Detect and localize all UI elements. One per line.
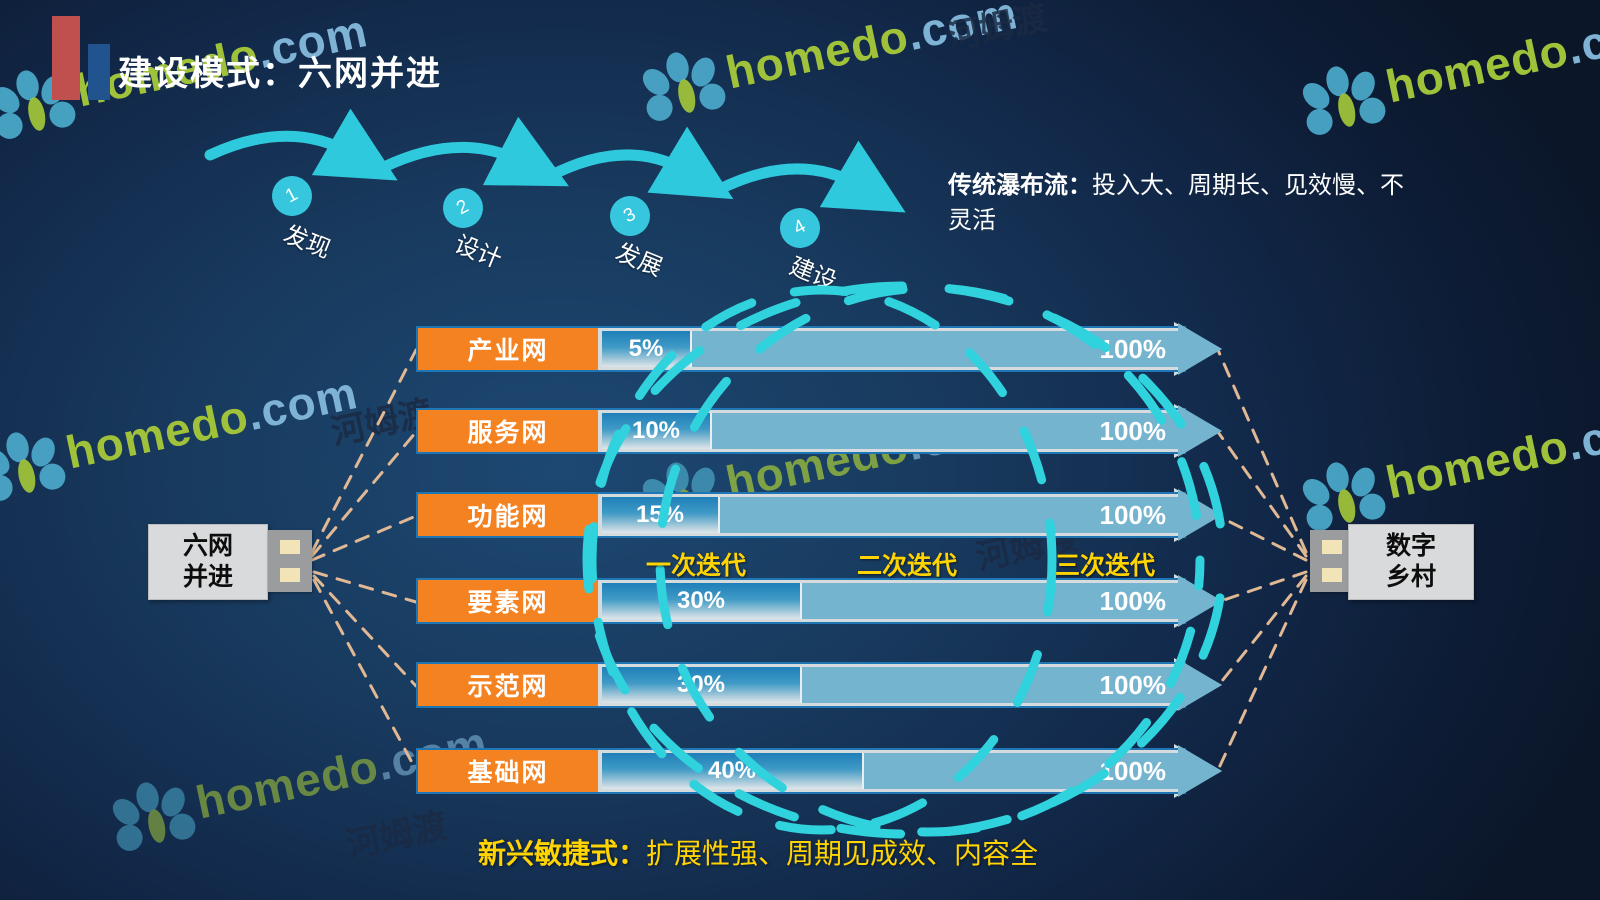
bar-track: 30% 100% bbox=[602, 667, 1180, 703]
bar-label: 基础网 bbox=[418, 750, 598, 792]
iteration-label-2: 二次迭代 bbox=[857, 546, 957, 582]
connector-dot bbox=[1322, 568, 1342, 582]
bar-label: 功能网 bbox=[418, 494, 598, 536]
bar-target-label: 100% bbox=[1100, 667, 1167, 703]
bar-arrowhead bbox=[1178, 489, 1222, 541]
watermark-cn: 河姆渡 bbox=[341, 798, 451, 867]
bar-label: 示范网 bbox=[418, 664, 598, 706]
bar-arrowhead bbox=[1178, 659, 1222, 711]
bar-frame: 功能网 15% 100% bbox=[416, 492, 1186, 538]
bar-target-label: 100% bbox=[1100, 331, 1167, 367]
node-left-line1: 六网 bbox=[183, 531, 233, 562]
steps-layer: 1 发现 2 设计 3 发展 4 建设 bbox=[0, 0, 1600, 320]
node-left-line2: 并进 bbox=[183, 562, 233, 593]
bar-row[interactable]: 服务网 10% 100% bbox=[416, 408, 1216, 454]
bar-arrowhead bbox=[1178, 323, 1222, 375]
bar-label: 产业网 bbox=[418, 328, 598, 370]
step-label-3: 发展 bbox=[611, 232, 669, 282]
step-label-4: 建设 bbox=[785, 246, 843, 296]
bar-fill: 40% bbox=[602, 753, 864, 789]
note-agile-label: 新兴敏捷式： bbox=[478, 838, 646, 869]
connector-dot bbox=[1322, 540, 1342, 554]
bar-track: 15% 100% bbox=[602, 497, 1180, 533]
bar-fill: 5% bbox=[602, 331, 692, 367]
note-waterfall: 传统瀑布流：投入大、周期长、见效慢、不灵活 bbox=[948, 168, 1418, 238]
bar-frame: 基础网 40% 100% bbox=[416, 748, 1186, 794]
node-right-box[interactable]: 数字 乡村 bbox=[1348, 524, 1474, 600]
bar-arrowhead bbox=[1178, 405, 1222, 457]
bar-arrowhead bbox=[1178, 575, 1222, 627]
bar-fill: 30% bbox=[602, 583, 802, 619]
note-agile-text: 扩展性强、周期见成效、内容全 bbox=[646, 838, 1038, 869]
slide-canvas: homedo.com homedo.com homedo.com bbox=[0, 0, 1600, 900]
bar-row[interactable]: 要素网 30% 100% bbox=[416, 578, 1216, 624]
bar-fill: 15% bbox=[602, 497, 720, 533]
bar-row[interactable]: 功能网 15% 100% bbox=[416, 492, 1216, 538]
bar-fill: 10% bbox=[602, 413, 712, 449]
node-left-box[interactable]: 六网 并进 bbox=[148, 524, 268, 600]
bar-label: 要素网 bbox=[418, 580, 598, 622]
node-left-connector bbox=[268, 530, 312, 592]
node-right-line2: 乡村 bbox=[1386, 562, 1436, 593]
bar-arrowhead bbox=[1178, 745, 1222, 797]
bar-target-label: 100% bbox=[1100, 583, 1167, 619]
bar-frame: 要素网 30% 100% bbox=[416, 578, 1186, 624]
iteration-label-1: 一次迭代 bbox=[646, 546, 746, 582]
bar-track: 5% 100% bbox=[602, 331, 1180, 367]
step-label-2: 设计 bbox=[450, 224, 508, 274]
note-agile: 新兴敏捷式：扩展性强、周期见成效、内容全 bbox=[478, 832, 1038, 872]
bar-target-label: 100% bbox=[1100, 413, 1167, 449]
bar-track: 40% 100% bbox=[602, 753, 1180, 789]
bar-row[interactable]: 示范网 30% 100% bbox=[416, 662, 1216, 708]
bar-target-label: 100% bbox=[1100, 497, 1167, 533]
bar-track: 10% 100% bbox=[602, 413, 1180, 449]
bar-frame: 示范网 30% 100% bbox=[416, 662, 1186, 708]
step-label-1: 发现 bbox=[279, 214, 337, 264]
node-right-line1: 数字 bbox=[1386, 531, 1436, 562]
bar-frame: 服务网 10% 100% bbox=[416, 408, 1186, 454]
bar-track: 30% 100% bbox=[602, 583, 1180, 619]
bar-frame: 产业网 5% 100% bbox=[416, 326, 1186, 372]
connector-dot bbox=[280, 540, 300, 554]
bar-target-label: 100% bbox=[1100, 753, 1167, 789]
note-waterfall-label: 传统瀑布流： bbox=[948, 172, 1092, 199]
bar-row[interactable]: 产业网 5% 100% bbox=[416, 326, 1216, 372]
connector-dot bbox=[280, 568, 300, 582]
iteration-label-3: 三次迭代 bbox=[1055, 546, 1155, 582]
bar-row[interactable]: 基础网 40% 100% bbox=[416, 748, 1216, 794]
bar-fill: 30% bbox=[602, 667, 802, 703]
bar-label: 服务网 bbox=[418, 410, 598, 452]
